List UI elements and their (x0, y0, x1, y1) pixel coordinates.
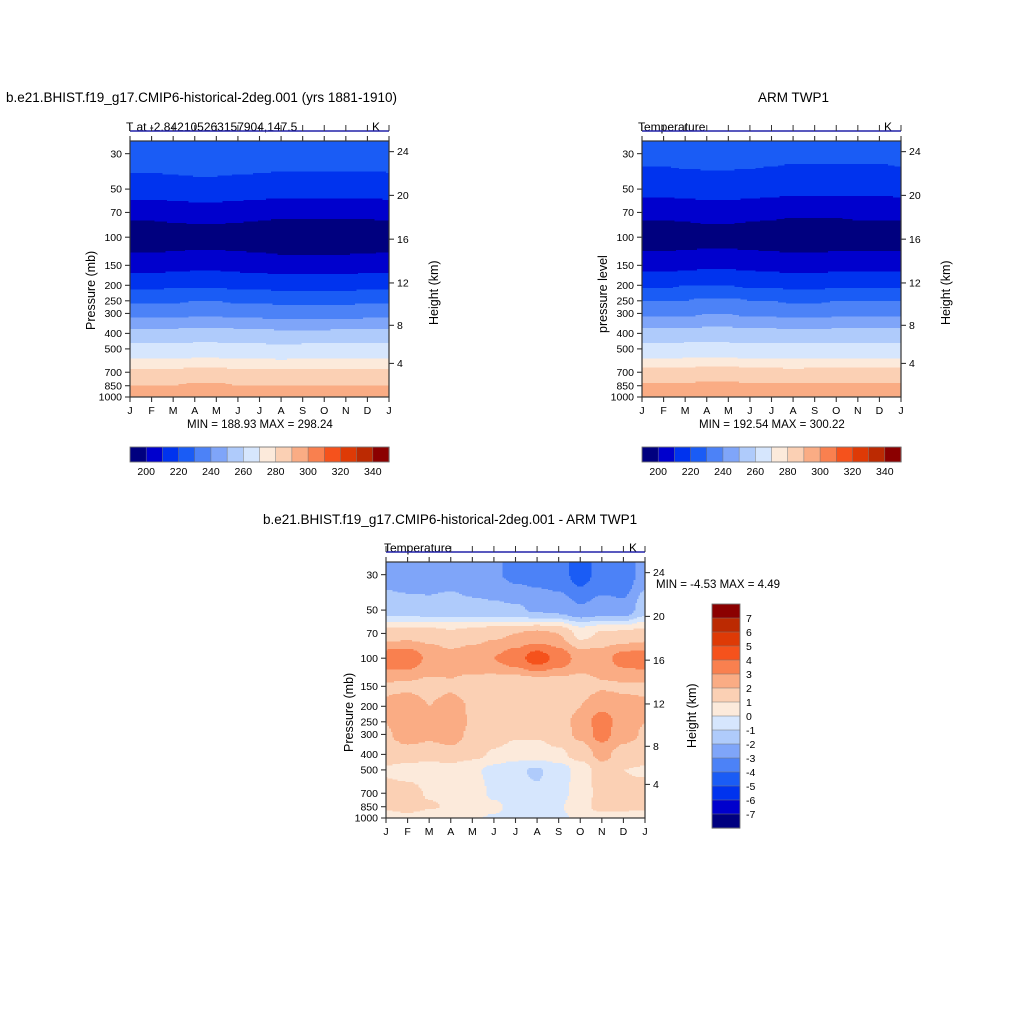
svg-text:A: A (278, 405, 285, 417)
svg-text:8: 8 (397, 320, 403, 332)
svg-text:A: A (191, 405, 198, 417)
svg-text:N: N (598, 826, 606, 838)
svg-text:J: J (386, 405, 391, 417)
svg-text:F: F (148, 405, 154, 417)
svg-text:250: 250 (616, 295, 634, 307)
svg-text:200: 200 (137, 466, 155, 478)
svg-text:-5: -5 (746, 781, 755, 793)
svg-text:J: J (383, 826, 388, 838)
svg-text:4: 4 (653, 779, 659, 791)
svg-text:6: 6 (746, 627, 752, 639)
svg-text:J: J (639, 405, 644, 417)
svg-text:12: 12 (397, 278, 409, 290)
svg-text:850: 850 (616, 380, 634, 392)
svg-text:850: 850 (104, 380, 122, 392)
svg-text:30: 30 (366, 569, 378, 581)
svg-text:320: 320 (332, 466, 350, 478)
svg-text:J: J (769, 405, 774, 417)
svg-text:A: A (703, 405, 710, 417)
svg-text:S: S (811, 405, 818, 417)
svg-text:1000: 1000 (99, 392, 123, 404)
svg-text:F: F (404, 826, 410, 838)
svg-text:24: 24 (397, 146, 409, 158)
svg-text:280: 280 (779, 466, 797, 478)
svg-text:J: J (235, 405, 240, 417)
svg-text:12: 12 (909, 278, 921, 290)
svg-text:M: M (681, 405, 690, 417)
svg-text:50: 50 (110, 184, 122, 196)
svg-text:700: 700 (360, 788, 378, 800)
svg-text:O: O (832, 405, 840, 417)
svg-text:12: 12 (653, 699, 665, 711)
contour-plot-difference: 3050701001502002503004005007008501000481… (256, 500, 896, 870)
svg-text:100: 100 (104, 232, 122, 244)
svg-text:J: J (642, 826, 647, 838)
svg-text:D: D (876, 405, 884, 417)
panel-model-temperature: b.e21.BHIST.f19_g17.CMIP6-historical-2de… (0, 0, 512, 500)
svg-text:200: 200 (616, 280, 634, 292)
svg-text:4: 4 (909, 358, 915, 370)
svg-text:300: 300 (616, 308, 634, 320)
panel-obs-temperature: ARM TWP1 Temperature K pressure level He… (512, 0, 1024, 500)
svg-text:-3: -3 (746, 753, 755, 765)
svg-text:J: J (513, 826, 518, 838)
svg-text:30: 30 (622, 148, 634, 160)
svg-text:A: A (534, 826, 541, 838)
svg-text:S: S (555, 826, 562, 838)
svg-text:16: 16 (653, 655, 665, 667)
svg-text:-6: -6 (746, 795, 755, 807)
svg-text:4: 4 (746, 655, 752, 667)
svg-text:-1: -1 (746, 725, 755, 737)
svg-text:70: 70 (366, 628, 378, 640)
svg-text:M: M (212, 405, 221, 417)
contour-plot-obs: 3050701001502002503004005007008501000481… (512, 0, 1024, 500)
svg-text:A: A (790, 405, 797, 417)
svg-text:70: 70 (110, 207, 122, 219)
svg-text:-4: -4 (746, 767, 755, 779)
svg-text:1: 1 (746, 697, 752, 709)
svg-text:M: M (724, 405, 733, 417)
svg-text:340: 340 (364, 466, 382, 478)
svg-text:16: 16 (909, 234, 921, 246)
svg-text:0: 0 (746, 711, 752, 723)
svg-text:24: 24 (909, 146, 921, 158)
svg-text:500: 500 (104, 343, 122, 355)
svg-text:20: 20 (909, 190, 921, 202)
svg-text:150: 150 (360, 681, 378, 693)
svg-text:J: J (257, 405, 262, 417)
svg-text:200: 200 (104, 280, 122, 292)
svg-text:J: J (127, 405, 132, 417)
svg-text:50: 50 (622, 184, 634, 196)
svg-text:250: 250 (104, 295, 122, 307)
svg-text:8: 8 (653, 741, 659, 753)
svg-text:220: 220 (682, 466, 700, 478)
svg-text:70: 70 (622, 207, 634, 219)
svg-text:250: 250 (360, 716, 378, 728)
svg-text:N: N (342, 405, 350, 417)
svg-text:200: 200 (649, 466, 667, 478)
svg-text:M: M (468, 826, 477, 838)
svg-text:260: 260 (235, 466, 253, 478)
svg-text:30: 30 (110, 148, 122, 160)
svg-text:D: D (364, 405, 372, 417)
svg-text:F: F (660, 405, 666, 417)
svg-text:400: 400 (104, 328, 122, 340)
svg-text:320: 320 (844, 466, 862, 478)
svg-text:340: 340 (876, 466, 894, 478)
svg-text:20: 20 (653, 611, 665, 623)
svg-text:260: 260 (747, 466, 765, 478)
svg-text:7: 7 (746, 613, 752, 625)
svg-text:D: D (620, 826, 628, 838)
svg-text:300: 300 (360, 729, 378, 741)
svg-text:220: 220 (170, 466, 188, 478)
svg-text:-2: -2 (746, 739, 755, 751)
svg-text:J: J (747, 405, 752, 417)
svg-text:700: 700 (104, 367, 122, 379)
svg-text:N: N (854, 405, 862, 417)
svg-text:150: 150 (104, 260, 122, 272)
svg-text:400: 400 (360, 749, 378, 761)
svg-text:A: A (447, 826, 454, 838)
svg-text:J: J (898, 405, 903, 417)
svg-text:100: 100 (360, 653, 378, 665)
svg-text:500: 500 (616, 343, 634, 355)
svg-text:8: 8 (909, 320, 915, 332)
svg-text:300: 300 (104, 308, 122, 320)
svg-text:24: 24 (653, 567, 665, 579)
panel-difference: b.e21.BHIST.f19_g17.CMIP6-historical-2de… (256, 500, 896, 870)
svg-text:240: 240 (202, 466, 220, 478)
svg-text:850: 850 (360, 801, 378, 813)
svg-text:O: O (576, 826, 584, 838)
svg-text:O: O (320, 405, 328, 417)
contour-plot-model: 3050701001502002503004005007008501000481… (0, 0, 512, 500)
svg-text:5: 5 (746, 641, 752, 653)
svg-text:1000: 1000 (611, 392, 635, 404)
svg-text:240: 240 (714, 466, 732, 478)
svg-text:2: 2 (746, 683, 752, 695)
svg-text:S: S (299, 405, 306, 417)
svg-text:150: 150 (616, 260, 634, 272)
svg-text:1000: 1000 (355, 813, 379, 825)
svg-text:280: 280 (267, 466, 285, 478)
svg-text:16: 16 (397, 234, 409, 246)
svg-text:-7: -7 (746, 809, 755, 821)
svg-text:M: M (425, 826, 434, 838)
svg-text:400: 400 (616, 328, 634, 340)
svg-text:700: 700 (616, 367, 634, 379)
svg-text:300: 300 (811, 466, 829, 478)
svg-text:4: 4 (397, 358, 403, 370)
svg-text:500: 500 (360, 764, 378, 776)
svg-text:M: M (169, 405, 178, 417)
svg-text:50: 50 (366, 605, 378, 617)
svg-text:J: J (491, 826, 496, 838)
svg-text:200: 200 (360, 701, 378, 713)
svg-text:300: 300 (299, 466, 317, 478)
svg-text:20: 20 (397, 190, 409, 202)
svg-text:3: 3 (746, 669, 752, 681)
svg-text:100: 100 (616, 232, 634, 244)
